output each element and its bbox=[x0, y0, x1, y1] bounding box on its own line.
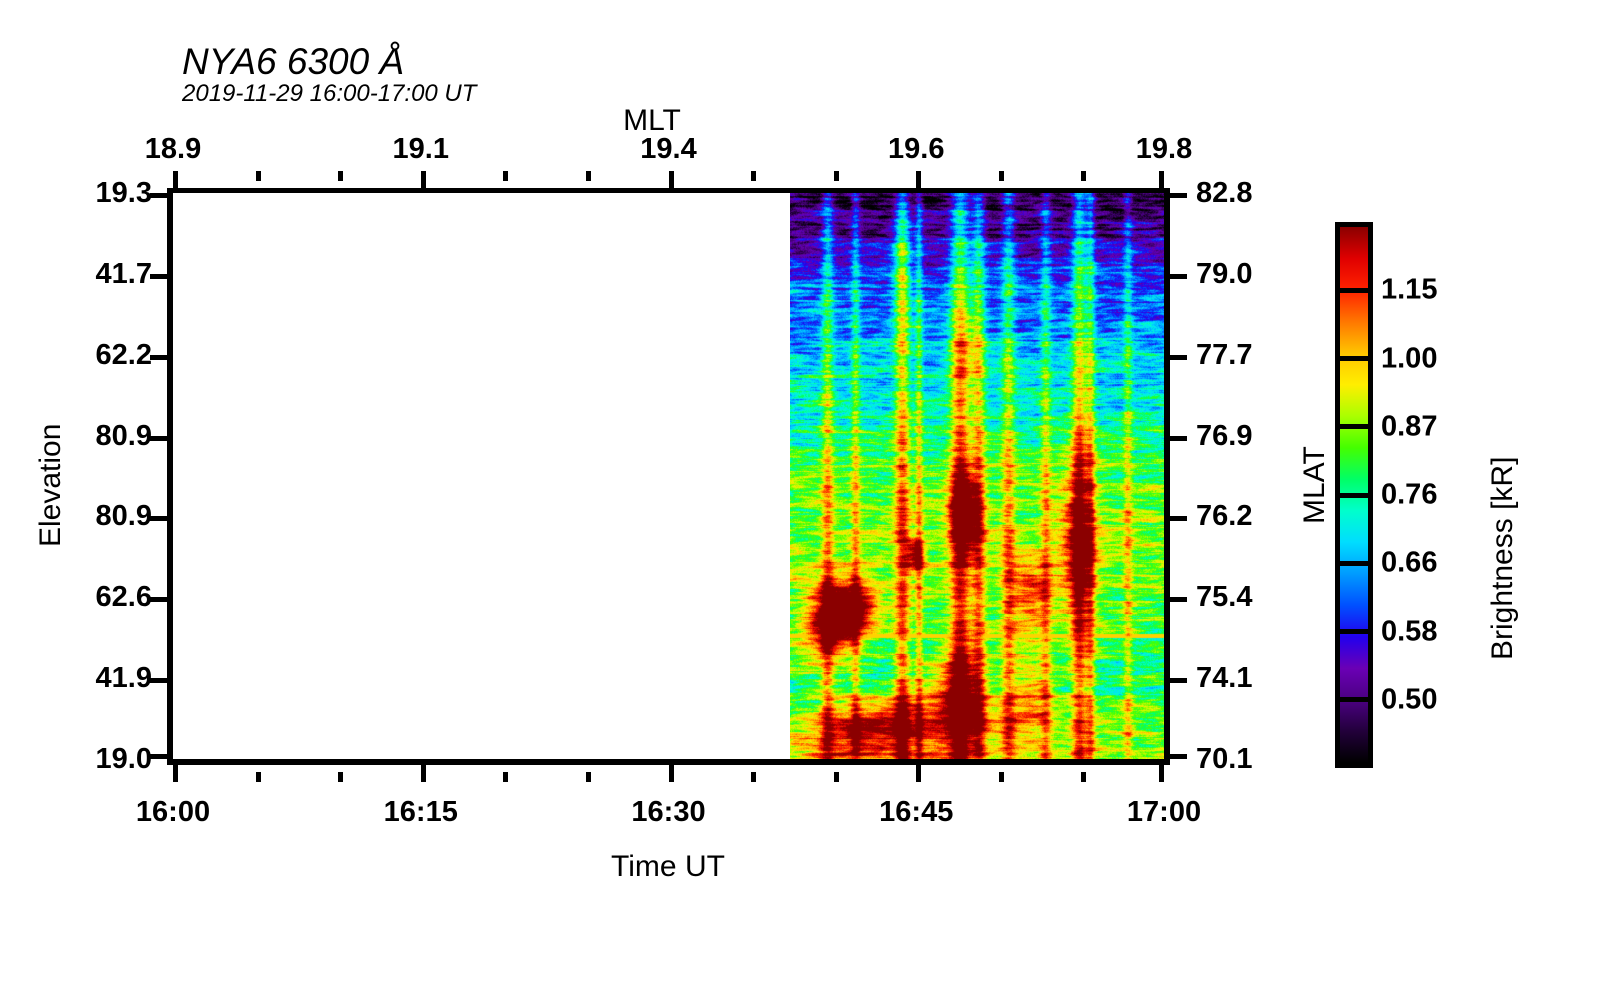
elev-tick-label-7: 19.0 bbox=[96, 744, 152, 774]
mlt-tick-label-4: 19.8 bbox=[1136, 134, 1192, 164]
mlt-axis-title: MLT bbox=[623, 104, 681, 138]
colorbar-label-6: 0.50 bbox=[1381, 683, 1437, 716]
elev-tick-label-4: 80.9 bbox=[96, 501, 152, 531]
time-tick-major-tick-0 bbox=[173, 765, 178, 782]
elev-tick-label-0: 19.3 bbox=[96, 178, 152, 208]
mlt-tick-label-1: 19.1 bbox=[393, 134, 449, 164]
colorbar-divider-1 bbox=[1335, 356, 1373, 361]
mlat-tick-label-0: 82.8 bbox=[1196, 178, 1252, 208]
elev-tick-label-6: 41.9 bbox=[96, 663, 152, 693]
mlat-tick-label-7: 70.1 bbox=[1196, 744, 1252, 774]
mlat-tick-label-2: 77.7 bbox=[1196, 340, 1252, 370]
elev-tick-major-tick-0 bbox=[150, 193, 167, 198]
time-tick-label-4: 17:00 bbox=[1127, 797, 1201, 827]
mlt-tick-label-2: 19.4 bbox=[640, 134, 696, 164]
mlt-tick-minor-tick-1-1 bbox=[503, 171, 508, 181]
time-tick-label-1: 16:15 bbox=[384, 797, 458, 827]
mlat-tick-major-tick-7 bbox=[1170, 754, 1187, 759]
elev-tick-major-tick-1 bbox=[150, 274, 167, 279]
mlat-tick-label-6: 74.1 bbox=[1196, 663, 1252, 693]
mlat-axis-title: MLAT bbox=[1298, 446, 1332, 524]
mlt-tick-major-tick-4 bbox=[1159, 171, 1164, 188]
mlt-tick-label-0: 18.9 bbox=[145, 134, 201, 164]
mlat-tick-major-tick-5 bbox=[1170, 597, 1187, 602]
mlat-tick-label-4: 76.2 bbox=[1196, 501, 1252, 531]
time-tick-label-3: 16:45 bbox=[879, 797, 953, 827]
mlt-tick-minor-tick-2-1 bbox=[751, 171, 756, 181]
mlt-tick-minor-tick-3-2 bbox=[1081, 171, 1086, 181]
mlt-tick-major-tick-1 bbox=[421, 171, 426, 188]
mlat-tick-label-1: 79.0 bbox=[1196, 259, 1252, 289]
colorbar-label-2: 0.87 bbox=[1381, 410, 1437, 443]
elev-tick-label-3: 80.9 bbox=[96, 421, 152, 451]
colorbar-divider-2 bbox=[1335, 424, 1373, 429]
time-tick-minor-tick-3-1 bbox=[999, 772, 1004, 782]
time-tick-major-tick-4 bbox=[1159, 765, 1164, 782]
colorbar-label-3: 0.76 bbox=[1381, 479, 1437, 512]
mlt-tick-minor-tick-0-2 bbox=[338, 171, 343, 181]
mlat-tick-label-3: 76.9 bbox=[1196, 421, 1252, 451]
time-tick-major-tick-3 bbox=[916, 765, 921, 782]
mlt-tick-minor-tick-0-1 bbox=[256, 171, 261, 181]
time-tick-label-0: 16:00 bbox=[136, 797, 210, 827]
elev-tick-major-tick-6 bbox=[150, 678, 167, 683]
time-tick-minor-tick-2-1 bbox=[751, 772, 756, 782]
mlt-tick-major-tick-2 bbox=[669, 171, 674, 188]
time-tick-minor-tick-1-1 bbox=[503, 772, 508, 782]
mlt-tick-minor-tick-1-2 bbox=[586, 171, 591, 181]
colorbar-divider-5 bbox=[1335, 629, 1373, 634]
time-axis-title: Time UT bbox=[611, 850, 725, 884]
elev-tick-label-2: 62.2 bbox=[96, 340, 152, 370]
elev-tick-label-5: 62.6 bbox=[96, 582, 152, 612]
elev-tick-major-tick-2 bbox=[150, 355, 167, 360]
time-tick-minor-tick-1-2 bbox=[586, 772, 591, 782]
time-tick-major-tick-2 bbox=[669, 765, 674, 782]
mlat-tick-label-5: 75.4 bbox=[1196, 582, 1252, 612]
mlt-tick-major-tick-3 bbox=[916, 171, 921, 188]
colorbar-label-5: 0.58 bbox=[1381, 615, 1437, 648]
mlat-tick-major-tick-4 bbox=[1170, 516, 1187, 521]
keogram-heatmap bbox=[790, 193, 1164, 759]
time-tick-minor-tick-3-2 bbox=[1081, 772, 1086, 782]
mlt-tick-label-3: 19.6 bbox=[888, 134, 944, 164]
mlat-tick-major-tick-0 bbox=[1170, 193, 1187, 198]
elev-tick-label-1: 41.7 bbox=[96, 259, 152, 289]
colorbar-label-4: 0.66 bbox=[1381, 547, 1437, 580]
elev-tick-major-tick-4 bbox=[150, 516, 167, 521]
mlt-tick-minor-tick-3-1 bbox=[999, 171, 1004, 181]
colorbar-divider-0 bbox=[1335, 288, 1373, 293]
page-subtitle: 2019-11-29 16:00-17:00 UT bbox=[182, 80, 476, 108]
time-tick-minor-tick-0-1 bbox=[256, 772, 261, 782]
colorbar-title: Brightness [kR] bbox=[1486, 457, 1520, 660]
mlt-tick-minor-tick-2-2 bbox=[834, 171, 839, 181]
colorbar-divider-3 bbox=[1335, 493, 1373, 498]
title-block: NYA6 6300 Å 2019-11-29 16:00-17:00 UT bbox=[182, 42, 476, 108]
colorbar bbox=[1335, 222, 1373, 768]
time-tick-minor-tick-0-2 bbox=[338, 772, 343, 782]
mlt-tick-major-tick-0 bbox=[173, 171, 178, 188]
time-tick-minor-tick-2-2 bbox=[834, 772, 839, 782]
elev-tick-major-tick-7 bbox=[150, 754, 167, 759]
page-title: NYA6 6300 Å bbox=[182, 42, 476, 82]
colorbar-divider-6 bbox=[1335, 697, 1373, 702]
time-tick-major-tick-1 bbox=[421, 765, 426, 782]
colorbar-divider-4 bbox=[1335, 561, 1373, 566]
mlat-tick-major-tick-3 bbox=[1170, 436, 1187, 441]
colorbar-label-1: 1.00 bbox=[1381, 342, 1437, 375]
elevation-axis-title: Elevation bbox=[34, 424, 68, 547]
colorbar-label-0: 1.15 bbox=[1381, 274, 1437, 307]
time-tick-label-2: 16:30 bbox=[631, 797, 705, 827]
elev-tick-major-tick-5 bbox=[150, 597, 167, 602]
keogram-plot-area bbox=[167, 188, 1170, 765]
mlat-tick-major-tick-6 bbox=[1170, 678, 1187, 683]
mlat-tick-major-tick-2 bbox=[1170, 355, 1187, 360]
elev-tick-major-tick-3 bbox=[150, 436, 167, 441]
mlat-tick-major-tick-1 bbox=[1170, 274, 1187, 279]
